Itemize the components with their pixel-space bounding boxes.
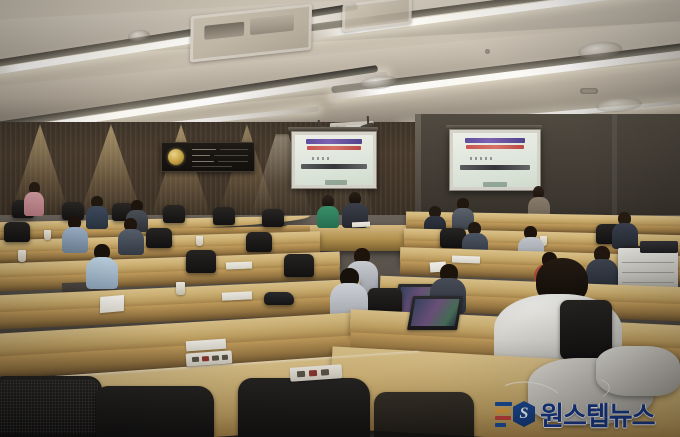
slide-subheader-band — [307, 146, 360, 150]
chair[interactable] — [284, 254, 314, 277]
attendee — [86, 196, 108, 226]
slide-bullet-dots — [470, 157, 492, 160]
watermark-logo: S 원스텝뉴스 — [495, 396, 655, 433]
laptop[interactable] — [407, 296, 463, 330]
bag — [264, 292, 294, 305]
attendee — [612, 212, 638, 246]
chair[interactable] — [246, 232, 272, 252]
paper-cup — [18, 250, 26, 262]
attendee-body — [62, 227, 88, 253]
slide-right — [453, 133, 537, 187]
logo-accent-bar — [495, 416, 511, 420]
handout-paper — [222, 291, 252, 301]
chair[interactable] — [238, 378, 370, 437]
slide-title-line — [460, 165, 531, 170]
attendee-body — [24, 192, 44, 216]
projection-screen-right — [449, 129, 541, 191]
presenter-documents — [352, 222, 370, 228]
projection-screen-left — [291, 131, 377, 189]
chair[interactable] — [186, 250, 216, 273]
chair[interactable] — [96, 386, 214, 437]
paper-cup — [196, 236, 203, 246]
presenter-body — [317, 206, 339, 228]
slide-bullet-dots — [312, 157, 332, 160]
attendee — [118, 218, 144, 252]
chair[interactable] — [262, 209, 284, 227]
logo-initial: S — [520, 406, 529, 422]
attendee — [86, 244, 118, 286]
slide-title-line — [301, 164, 367, 169]
chair[interactable] — [213, 207, 235, 225]
chair[interactable] — [0, 376, 102, 437]
slide-footer-logo — [483, 182, 507, 187]
wall-plaque — [161, 142, 255, 172]
chair[interactable] — [374, 392, 474, 437]
logo-badge-icon: S — [513, 401, 535, 427]
handout-paper — [452, 256, 480, 264]
chair[interactable] — [4, 222, 30, 242]
attendee — [24, 182, 44, 214]
watermark-brand-text: 원스텝뉴스 — [540, 396, 655, 433]
paper-cup — [44, 230, 51, 240]
paper-cup — [176, 282, 185, 295]
attendee-body — [86, 257, 118, 289]
chair[interactable] — [163, 205, 185, 223]
logo-accent-bar — [495, 423, 506, 427]
chair[interactable] — [146, 228, 172, 248]
ceiling — [0, 0, 680, 132]
printer-control-panel — [640, 241, 678, 253]
onestep-logo-mark-icon: S — [495, 399, 535, 430]
slide-subheader-band — [466, 145, 523, 149]
presenter-green — [316, 195, 340, 227]
ceiling-sprinkler-icon — [485, 49, 490, 54]
name-card — [100, 295, 124, 313]
ceiling-sprinkler-icon — [580, 88, 598, 94]
laptop-screen — [411, 299, 460, 326]
institution-emblem-icon — [168, 149, 184, 165]
slide-header-band — [306, 139, 362, 144]
attendee — [62, 216, 88, 250]
logo-accent-bar — [495, 402, 512, 406]
slide-footer-logo — [325, 180, 347, 185]
attendee-body — [86, 206, 108, 229]
slide-left — [295, 135, 373, 185]
logo-accent-bar — [495, 409, 509, 413]
attendee-body — [118, 229, 144, 255]
slide-header-band — [465, 138, 526, 143]
photo-scene: S 원스텝뉴스 — [0, 0, 680, 437]
handout-paper — [226, 262, 252, 270]
